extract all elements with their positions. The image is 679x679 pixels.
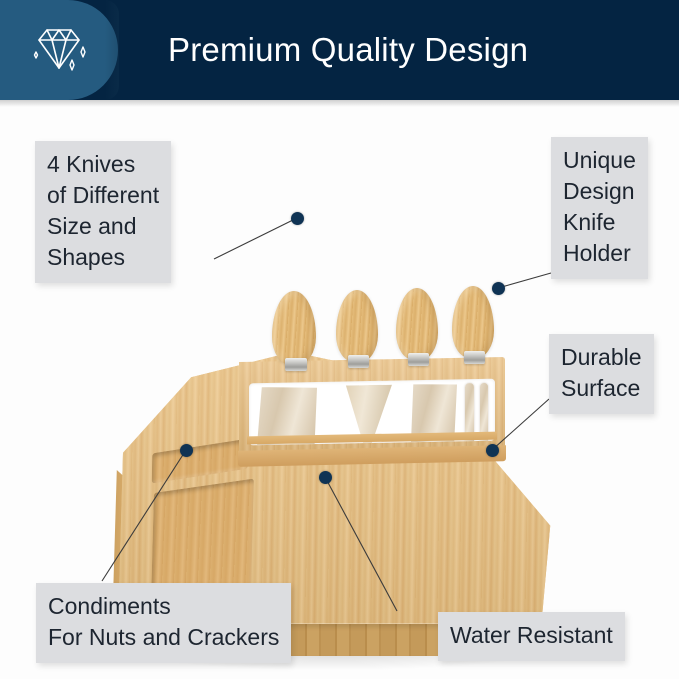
- diamond-icon: [27, 22, 93, 78]
- knife-1-ferrule: [285, 358, 307, 371]
- product-infographic: Premium Quality Design: [0, 0, 679, 679]
- callout-dot-knife-holder: [492, 282, 505, 295]
- callout-dot-condiments: [180, 444, 193, 457]
- callout-label-durable-surface: Durable Surface: [549, 334, 654, 414]
- header-banner: Premium Quality Design: [0, 0, 679, 100]
- callout-label-water-resistant: Water Resistant: [438, 612, 625, 661]
- header-icon-panel: [0, 0, 118, 100]
- knife-3-ferrule: [408, 353, 429, 366]
- callout-dot-water-resistant: [319, 471, 332, 484]
- knife-4-handle: [452, 286, 494, 358]
- callout-label-knife-holder: Unique Design Knife Holder: [551, 137, 648, 279]
- knife-2-handle: [336, 290, 378, 362]
- knife-1-handle: [272, 291, 316, 365]
- callout-label-knives: 4 Knives of Different Size and Shapes: [35, 141, 171, 283]
- callout-label-condiments: Condiments For Nuts and Crackers: [36, 583, 291, 663]
- callout-dot-durable-surface: [486, 444, 499, 457]
- knife-4-ferrule: [464, 351, 485, 364]
- callout-dot-knives: [291, 212, 304, 225]
- knife-2-ferrule: [348, 355, 369, 368]
- page-title: Premium Quality Design: [168, 0, 528, 100]
- knife-3-handle: [396, 288, 438, 360]
